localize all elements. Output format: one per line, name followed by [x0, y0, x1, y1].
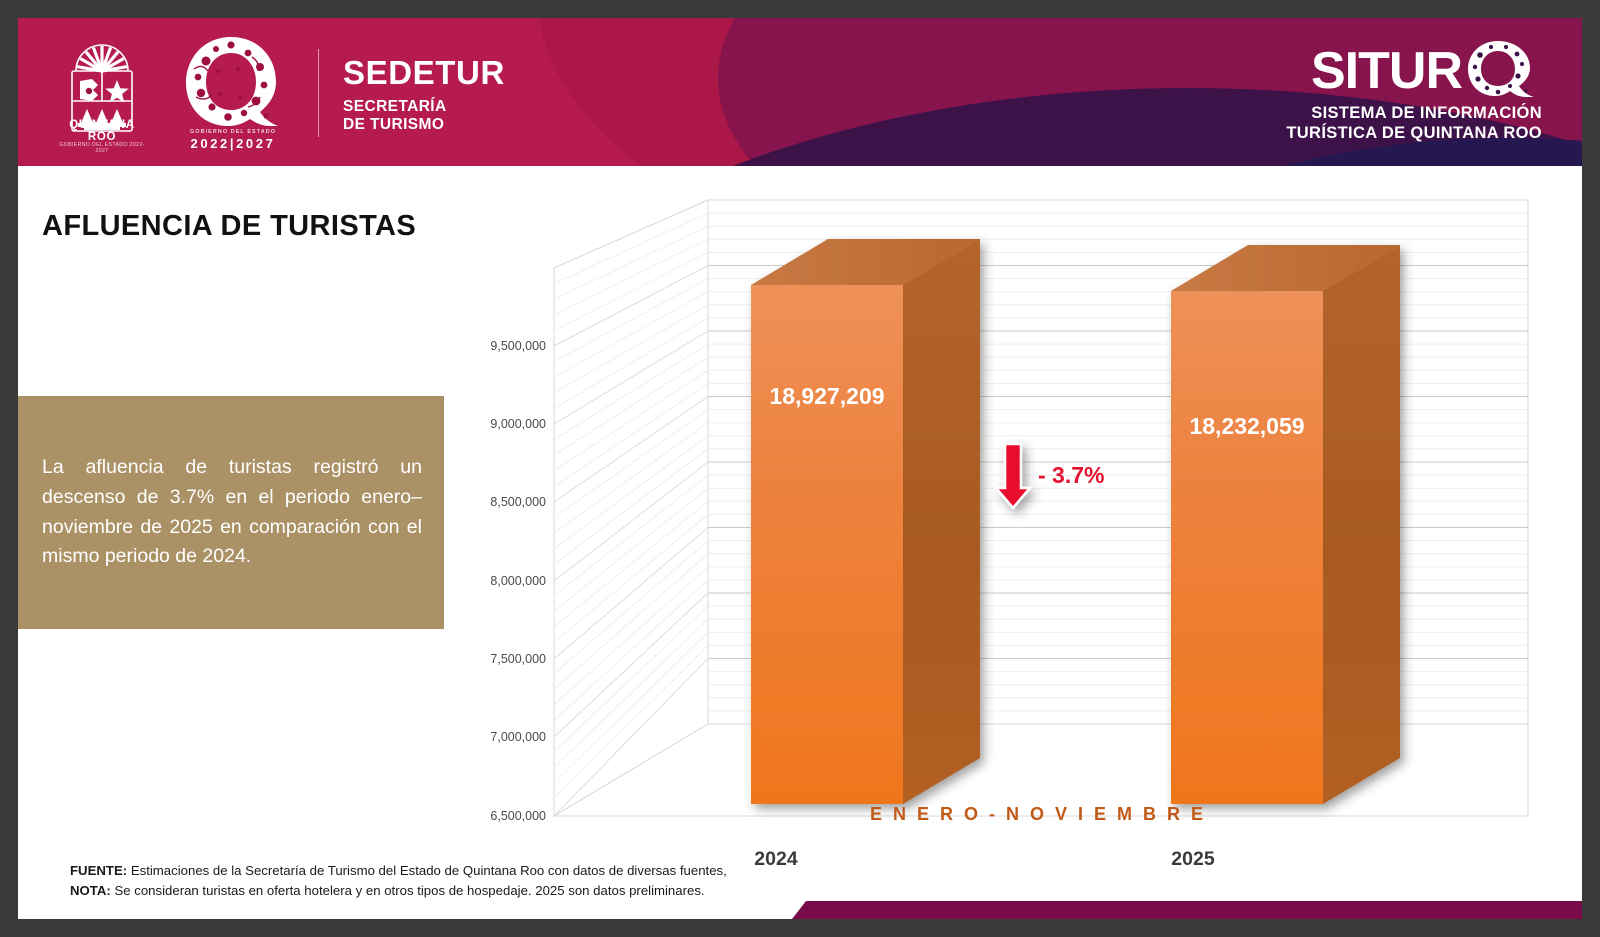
chart-svg: 9,500,000 9,000,000 8,500,000 8,000,000 … — [458, 186, 1558, 866]
bar-value-label-2024: 18,927,209 — [769, 383, 884, 409]
situr-wordmark: SITUR — [1311, 47, 1462, 96]
bar-value-label-2025: 18,232,059 — [1189, 413, 1304, 439]
tourist-volume-3d-bar-chart: 9,500,000 9,000,000 8,500,000 8,000,000 … — [458, 186, 1558, 866]
category-label-2025: 2025 — [1171, 848, 1215, 866]
situr-brand: SITUR SISTEMA DE INFORMACIÓN — [1286, 44, 1542, 143]
situr-subtitle-line2: TURÍSTICA DE QUINTANA ROO — [1286, 124, 1542, 143]
ytick-label: 9,000,000 — [490, 417, 546, 431]
chart-y-axis-ticks: 9,500,000 9,000,000 8,500,000 8,000,000 … — [490, 339, 546, 866]
chart-left-sidewall — [554, 200, 708, 816]
bar-2025[interactable] — [1171, 245, 1400, 804]
sedetur-brand: SEDETUR SECRETARÍA DE TURISMO — [343, 52, 505, 134]
footer-source-line: FUENTE: Estimaciones de la Secretaría de… — [70, 861, 727, 881]
ytick-label: 8,000,000 — [490, 574, 546, 588]
ytick-label: 9,500,000 — [490, 339, 546, 353]
sedetur-line3: DE TURISMO — [343, 116, 505, 134]
sedetur-line2: SECRETARÍA — [343, 98, 505, 116]
state-logo-caption: GOBIERNO DEL ESTADO — [174, 129, 292, 135]
footer-note-line: NOTA: Se consideran turistas en oferta h… — [70, 881, 727, 901]
crest-subtitle-label: GOBIERNO DEL ESTADO 2022-2027 — [54, 142, 150, 154]
ytick-label: 7,000,000 — [490, 730, 546, 744]
slide-canvas: QUINTANA ROO GOBIERNO DEL ESTADO 2022-20… — [18, 18, 1582, 919]
sedetur-name: SEDETUR — [343, 56, 505, 91]
state-logo-years: 2022|2027 — [174, 136, 292, 151]
footer-accent-bar — [792, 901, 1582, 919]
footer-source-text: Estimaciones de la Secretaría de Turismo… — [127, 863, 727, 878]
footer-source-label: FUENTE: — [70, 863, 127, 878]
category-label-2024: 2024 — [754, 848, 798, 866]
ytick-label: 6,500,000 — [490, 809, 546, 823]
footer-note-text: Se consideran turistas en oferta hoteler… — [111, 883, 705, 898]
crest-name-label: QUINTANA ROO — [54, 119, 150, 143]
quintana-roo-crest-icon: QUINTANA ROO GOBIERNO DEL ESTADO 2022-20… — [54, 31, 150, 155]
footer-notes: FUENTE: Estimaciones de la Secretaría de… — [70, 861, 727, 901]
ytick-label: 8,500,000 — [490, 495, 546, 509]
situr-q-glyph-icon — [1460, 38, 1542, 100]
header-logo-group: QUINTANA ROO GOBIERNO DEL ESTADO 2022-20… — [54, 28, 505, 158]
header-divider — [318, 49, 319, 137]
period-label: E N E R O - N O V I E M B R E — [870, 804, 1206, 824]
summary-callout-box: La afluencia de turistas registró un des… — [18, 396, 444, 629]
footer-note-label: NOTA: — [70, 883, 111, 898]
header-band: QUINTANA ROO GOBIERNO DEL ESTADO 2022-20… — [18, 18, 1582, 166]
delta-percentage-label: - 3.7% — [1038, 462, 1104, 488]
ytick-label: 7,500,000 — [490, 652, 546, 666]
bar-2024[interactable] — [751, 239, 980, 804]
situr-subtitle-line1: SISTEMA DE INFORMACIÓN — [1286, 104, 1542, 123]
page-title: AFLUENCIA DE TURISTAS — [42, 210, 416, 243]
state-q-logo-icon: GOBIERNO DEL ESTADO 2022|2027 — [174, 31, 292, 155]
summary-text: La afluencia de turistas registró un des… — [18, 453, 444, 572]
